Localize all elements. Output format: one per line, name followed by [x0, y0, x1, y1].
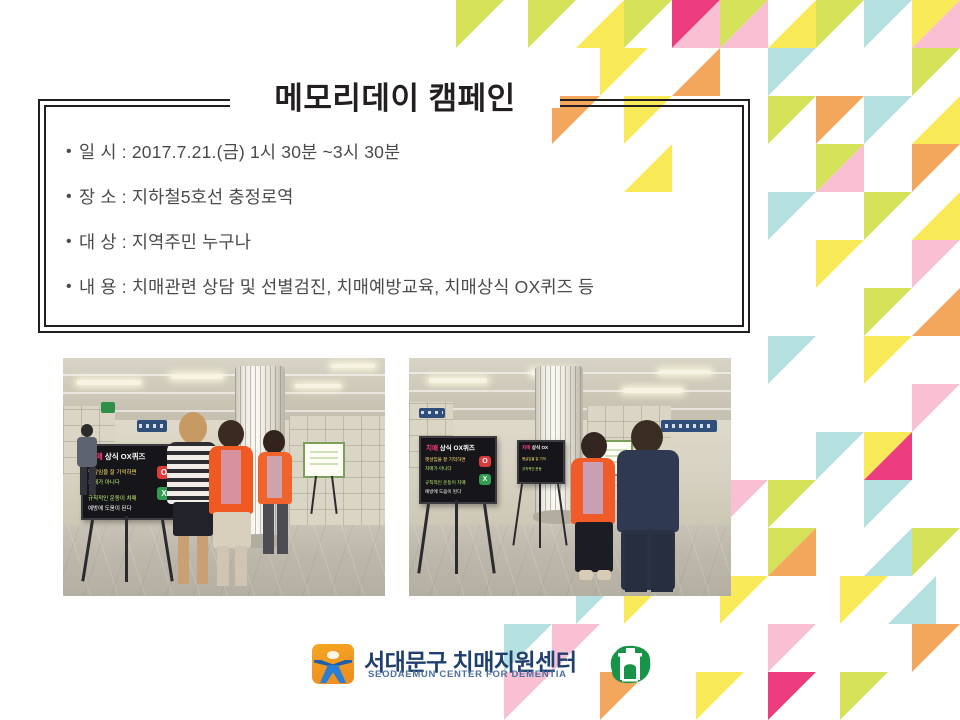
pattern-triangle: [912, 48, 960, 96]
pattern-triangle: [864, 0, 912, 48]
pattern-triangle: [912, 528, 960, 576]
dongnimmun-gate-icon: [606, 641, 654, 687]
title-backdrop: [230, 92, 560, 108]
campaign-photo-right: 치매 상식 OX퀴즈 햇살임을 잘 기억하면 치매가 아니다 규칙적인 운동이 …: [409, 358, 731, 596]
organization-logo: 서대문구 치매지원센터 SEODAEMUN CENTER FOR DEMENTI…: [312, 641, 662, 689]
pattern-triangle: [672, 48, 720, 96]
pattern-triangle: [864, 432, 912, 480]
pattern-triangle: [624, 0, 672, 48]
pattern-triangle: [840, 576, 888, 624]
pattern-triangle: [912, 96, 960, 144]
pattern-triangle: [912, 144, 960, 192]
pattern-triangle: [720, 0, 768, 48]
pattern-triangle: [768, 480, 816, 528]
pattern-triangle: [912, 624, 960, 672]
pattern-triangle: [456, 0, 504, 48]
station-sign: [661, 420, 717, 432]
pattern-triangle: [864, 96, 912, 144]
pattern-triangle: [768, 48, 816, 96]
pattern-triangle: [912, 288, 960, 336]
info-box-frame: [38, 99, 750, 333]
station-sign: [419, 408, 445, 418]
pattern-triangle: [768, 336, 816, 384]
pattern-triangle: [768, 624, 816, 672]
pattern-triangle: [672, 0, 720, 48]
pattern-triangle: [864, 288, 912, 336]
board-title: 치매 상식 OX퀴즈: [426, 442, 475, 452]
pattern-triangle: [912, 192, 960, 240]
board-line-1: 햇살임을 잘 기억하면: [425, 457, 466, 463]
ox-chip-x: X: [479, 474, 491, 485]
pattern-triangle: [912, 240, 960, 288]
pattern-triangle: [768, 672, 816, 720]
pattern-triangle: [816, 0, 864, 48]
info-poster: [303, 442, 345, 478]
pattern-triangle: [840, 672, 888, 720]
board-line-4: 예방에 도움이 된다: [425, 489, 461, 495]
pattern-triangle: [816, 96, 864, 144]
pattern-triangle: [816, 240, 864, 288]
pattern-triangle: [912, 384, 960, 432]
pattern-triangle: [696, 672, 744, 720]
pattern-triangle: [768, 528, 816, 576]
pattern-triangle: [816, 144, 864, 192]
pattern-triangle: [864, 336, 912, 384]
pattern-triangle: [888, 576, 936, 624]
pattern-triangle: [600, 48, 648, 96]
pattern-triangle: [912, 0, 960, 48]
logo-name-en: SEODAEMUN CENTER FOR DEMENTIA: [368, 669, 567, 680]
campaign-photo-left: 치매 상식 OX퀴즈 햇살임을 잘 기억하면 치매가 아니다 규칙적인 운동이 …: [63, 358, 385, 596]
pattern-triangle: [864, 528, 912, 576]
pattern-triangle: [768, 96, 816, 144]
board-line-2: 치매가 아니다: [425, 466, 452, 472]
pattern-triangle: [576, 0, 624, 48]
ox-chip-o: O: [479, 456, 491, 467]
pattern-triangle: [816, 432, 864, 480]
pattern-triangle: [768, 0, 816, 48]
board-line-3: 규칙적인 운동이 치매: [425, 480, 466, 486]
ox-quiz-board: 치매 상식 OX퀴즈 햇살임을 잘 기억하면 치매가 아니다 규칙적인 운동이 …: [419, 436, 497, 504]
slide-canvas: 메모리데이 캠페인 • 일 시 : 2017.7.21.(금) 1시 30분 ~…: [0, 0, 960, 720]
pattern-triangle: [864, 192, 912, 240]
info-box-frame-inner: [44, 105, 744, 327]
ox-quiz-board-secondary: 치매 상식 OX 햇살임을 잘 기억 규칙적인 운동: [517, 440, 565, 484]
pattern-triangle: [864, 480, 912, 528]
board-line-4: 예방에 도움이 된다: [88, 504, 132, 512]
board-line-3: 규칙적인 운동이 치매: [88, 494, 137, 502]
pattern-triangle: [528, 0, 576, 48]
pattern-triangle: [768, 192, 816, 240]
board-title: 치매 상식 OX퀴즈: [89, 451, 145, 462]
station-sign: [137, 420, 167, 432]
person-figure-icon: [312, 644, 354, 684]
